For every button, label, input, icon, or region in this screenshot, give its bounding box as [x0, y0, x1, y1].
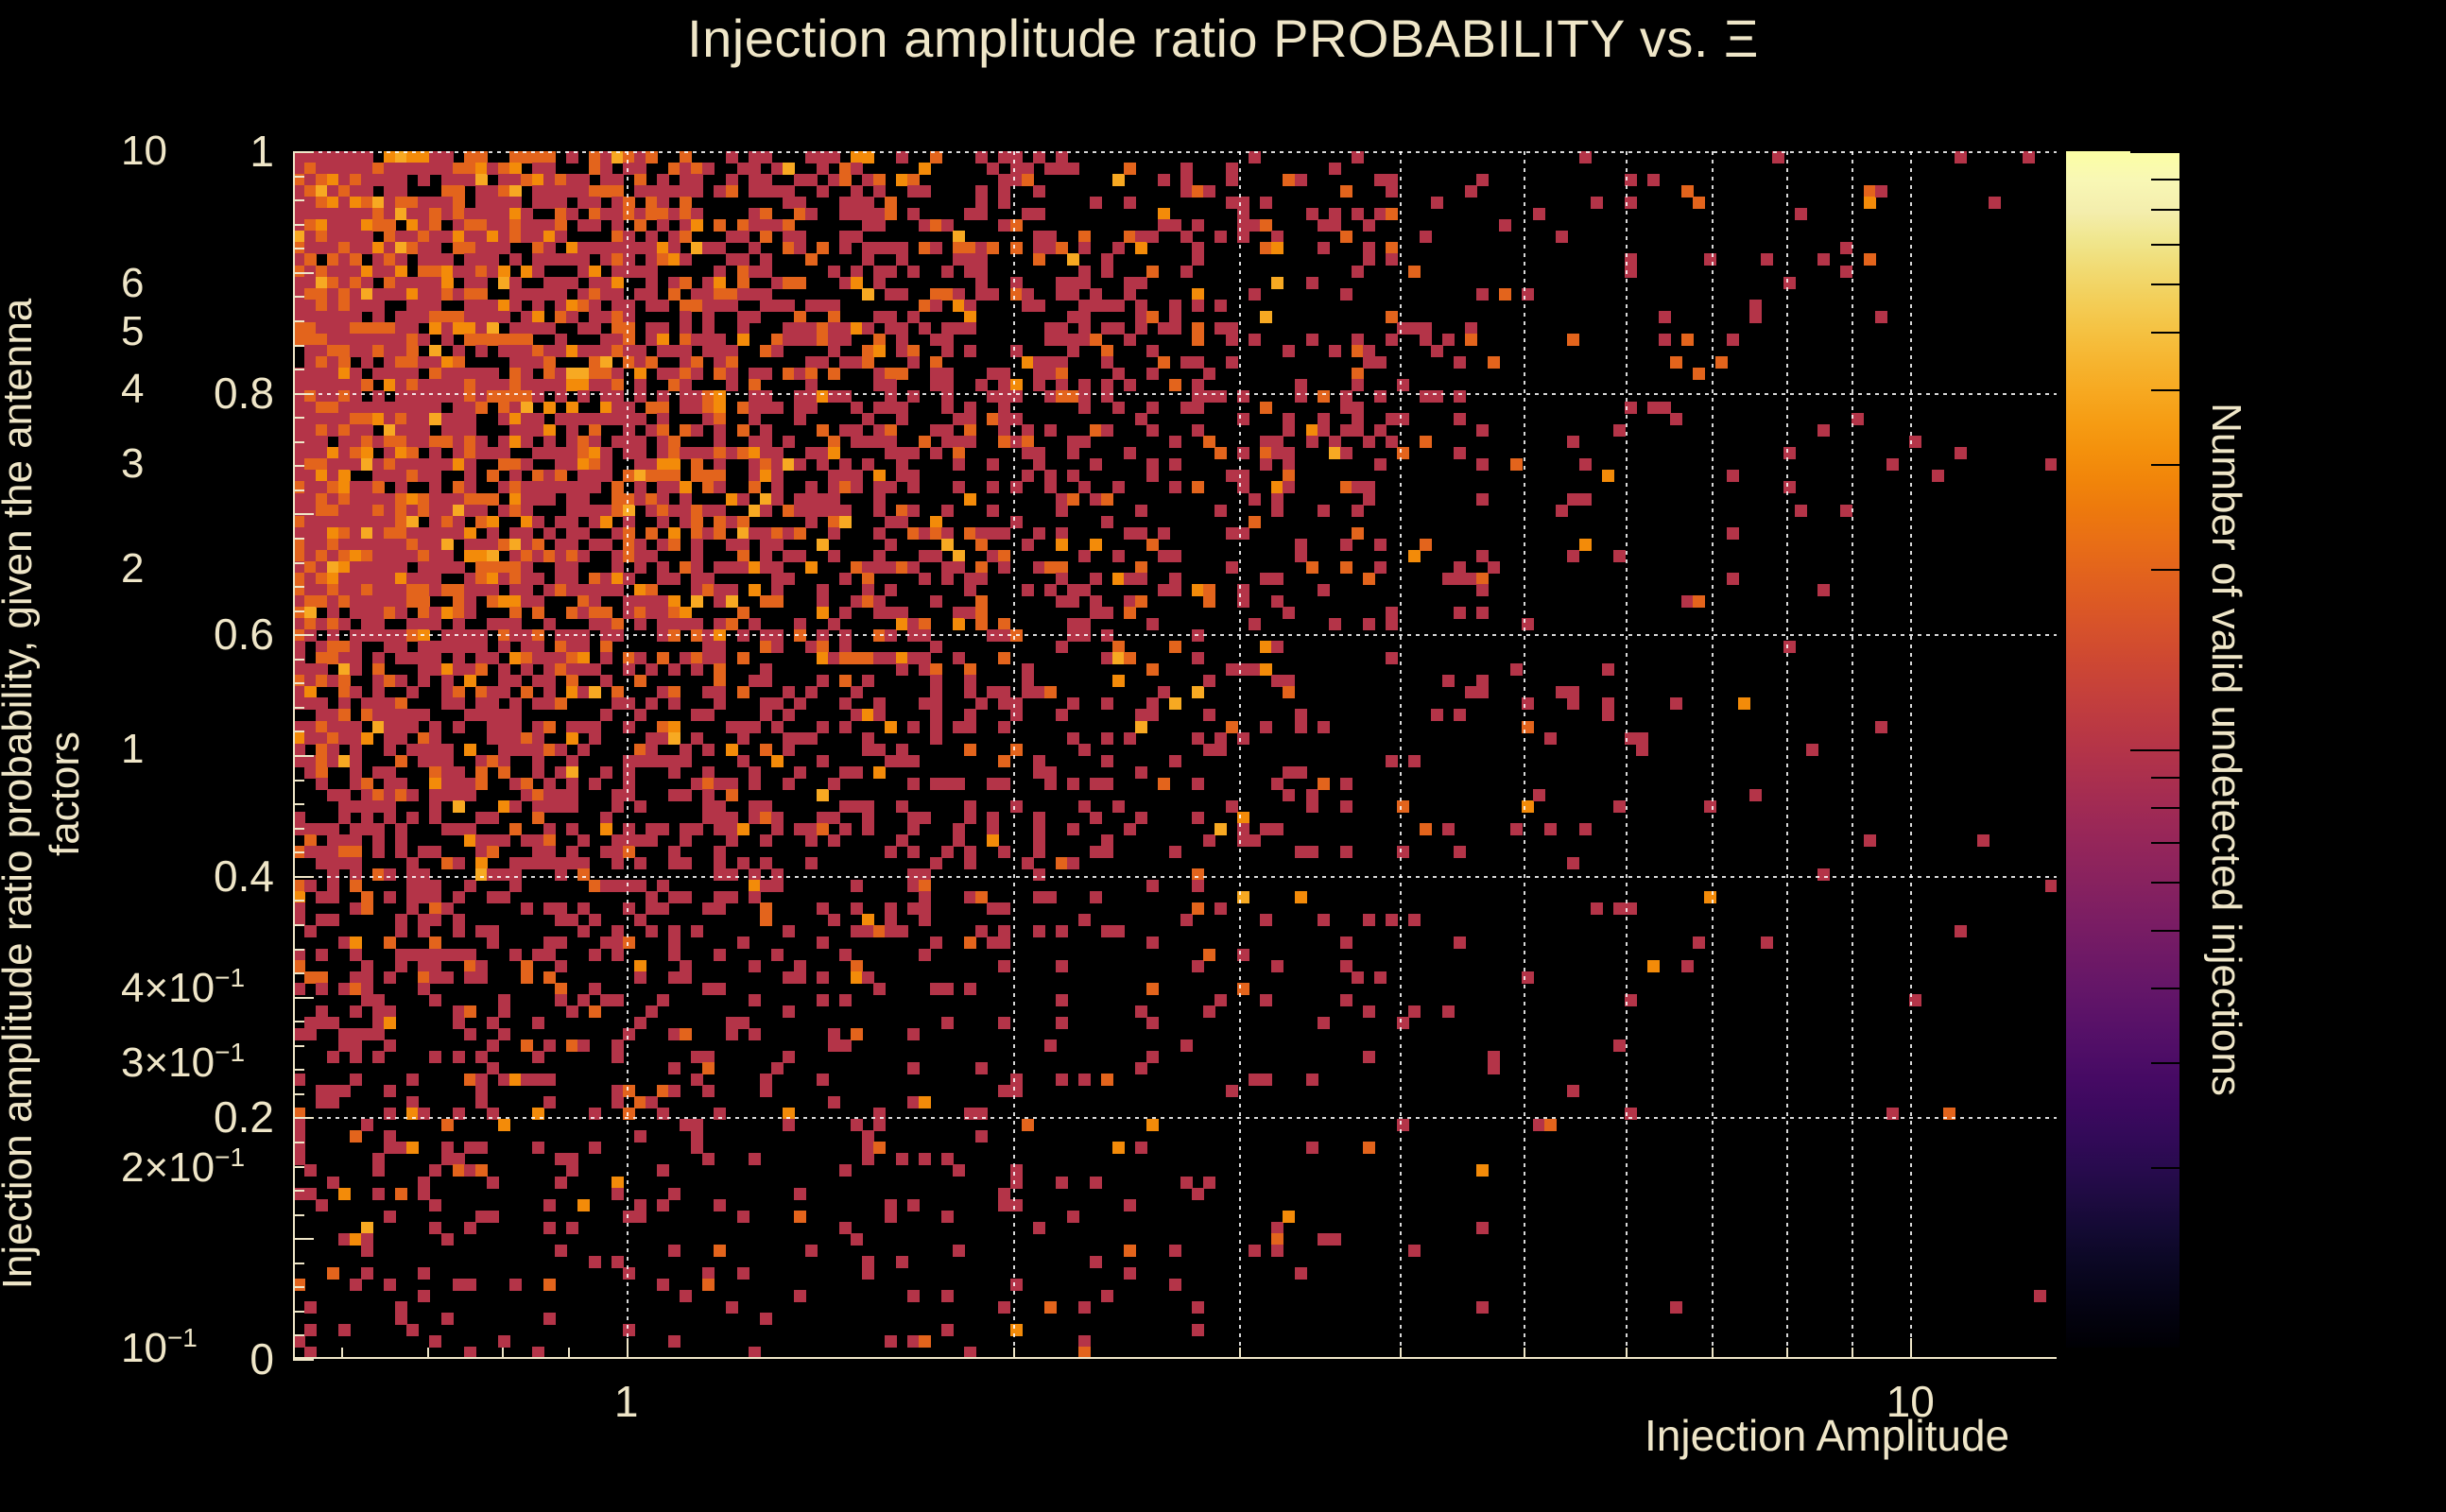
y-axis-title: Injection amplitude ratio probability, g… — [0, 293, 89, 1295]
colorbar-tick — [2151, 882, 2179, 884]
colorbar-tick-label: 6 — [121, 260, 144, 307]
colorbar-title: Number of valid undetected injections — [2202, 151, 2249, 1348]
colorbar-tick — [2130, 151, 2179, 153]
colorbar-tick — [2151, 842, 2179, 844]
y-tick-label: 0.6 — [113, 609, 274, 660]
colorbar-tick — [2151, 807, 2179, 809]
colorbar-tick — [2151, 389, 2179, 391]
x-axis-title: Injection Amplitude — [1645, 1410, 2009, 1461]
colorbar-tick — [2130, 749, 2179, 751]
page-title: Injection amplitude ratio PROBABILITY vs… — [0, 8, 2446, 69]
heatmap-plot-area[interactable] — [293, 151, 2057, 1359]
colorbar[interactable] — [2066, 151, 2179, 1348]
colorbar-tick — [2151, 283, 2179, 285]
y-tick-label: 0.4 — [113, 850, 274, 902]
colorbar-tick — [2151, 179, 2179, 180]
colorbar-tick — [2151, 988, 2179, 989]
colorbar-tick-label: 4×10−1 — [121, 963, 245, 1012]
y-tick-label: 0.2 — [113, 1091, 274, 1143]
colorbar-tick-label: 10−1 — [121, 1323, 198, 1372]
colorbar-tick-label: 1 — [121, 726, 144, 773]
heatmap-cells — [293, 151, 2057, 1359]
colorbar-tick-label: 3 — [121, 440, 144, 488]
chart-root: Injection amplitude ratio PROBABILITY vs… — [0, 0, 2446, 1512]
colorbar-tick — [2151, 332, 2179, 334]
colorbar-tick-label: 3×10−1 — [121, 1038, 245, 1087]
colorbar-tick-label: 2×10−1 — [121, 1143, 245, 1193]
colorbar-tick-label: 2 — [121, 545, 144, 593]
colorbar-tick — [2151, 209, 2179, 211]
colorbar-tick — [2151, 244, 2179, 246]
colorbar-tick — [2151, 930, 2179, 932]
colorbar-tick-label: 4 — [121, 366, 144, 413]
colorbar-tick — [2151, 777, 2179, 779]
colorbar-tick-label: 10 — [121, 128, 167, 175]
y-tick — [293, 1359, 314, 1361]
colorbar-tick — [2151, 464, 2179, 466]
x-tick-label: 1 — [614, 1376, 639, 1427]
colorbar-tick — [2130, 1348, 2179, 1349]
colorbar-tick — [2151, 1167, 2179, 1169]
colorbar-tick-label: 5 — [121, 308, 144, 355]
colorbar-tick — [2151, 1062, 2179, 1064]
colorbar-tick — [2151, 569, 2179, 571]
